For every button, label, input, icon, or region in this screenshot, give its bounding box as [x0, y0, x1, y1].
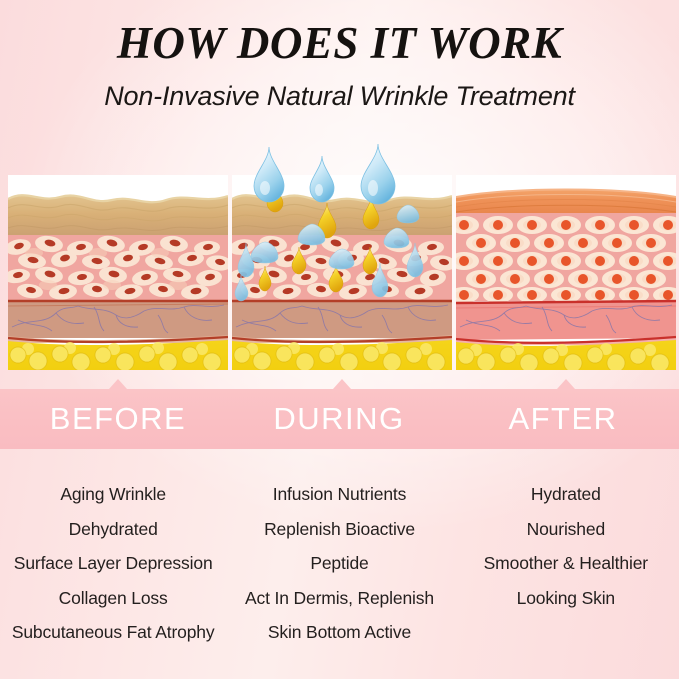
- stage-label-band: BEFORE DURING AFTER: [0, 389, 679, 449]
- benefit-item: Act In Dermis, Replenish: [226, 582, 452, 617]
- benefit-item: Aging Wrinkle: [0, 478, 226, 513]
- stage-label-before: BEFORE: [5, 389, 231, 449]
- skin-panel-after: [456, 175, 676, 370]
- falling-water-droplets-group: [232, 142, 452, 212]
- stage-label-during: DURING: [226, 389, 452, 449]
- benefit-item: Looking Skin: [453, 582, 679, 617]
- header: HOW DOES IT WORK Non-Invasive Natural Wr…: [0, 0, 679, 112]
- benefit-column-during: Infusion Nutrients Replenish Bioactive P…: [226, 460, 452, 660]
- stage-pointer-during-icon: [333, 379, 351, 389]
- benefit-item: Peptide: [226, 547, 452, 582]
- water-droplet-icon: [254, 147, 284, 202]
- benefit-item: Replenish Bioactive: [226, 513, 452, 548]
- benefit-column-after: Hydrated Nourished Smoother & Healthier …: [453, 460, 679, 660]
- benefit-item: Surface Layer Depression: [0, 547, 226, 582]
- benefit-columns: Aging Wrinkle Dehydrated Surface Layer D…: [0, 460, 679, 660]
- water-droplet-icon: [310, 156, 334, 202]
- page-subtitle: Non-Invasive Natural Wrinkle Treatment: [0, 67, 679, 112]
- benefit-item: Nourished: [453, 513, 679, 548]
- stage-pointer-before-icon: [109, 379, 127, 389]
- benefit-column-before: Aging Wrinkle Dehydrated Surface Layer D…: [0, 460, 226, 660]
- benefit-item: Subcutaneous Fat Atrophy: [0, 616, 226, 651]
- stage-label-after: AFTER: [450, 389, 676, 449]
- benefit-item: Hydrated: [453, 478, 679, 513]
- skin-panels-row: [0, 142, 679, 372]
- benefit-item: Infusion Nutrients: [226, 478, 452, 513]
- benefit-item: Smoother & Healthier: [453, 547, 679, 582]
- skin-cross-section-wrinkled-illustration: [8, 175, 228, 370]
- benefit-item: Dehydrated: [0, 513, 226, 548]
- benefit-item: Collagen Loss: [0, 582, 226, 617]
- stage-pointer-after-icon: [557, 379, 575, 389]
- page-title: HOW DOES IT WORK: [0, 0, 679, 67]
- infographic-root: HOW DOES IT WORK Non-Invasive Natural Wr…: [0, 0, 679, 679]
- benefit-item: Skin Bottom Active: [226, 616, 452, 651]
- skin-panel-before: [8, 175, 228, 370]
- skin-cross-section-smooth-illustration: [456, 175, 676, 370]
- water-droplet-icon: [361, 144, 395, 204]
